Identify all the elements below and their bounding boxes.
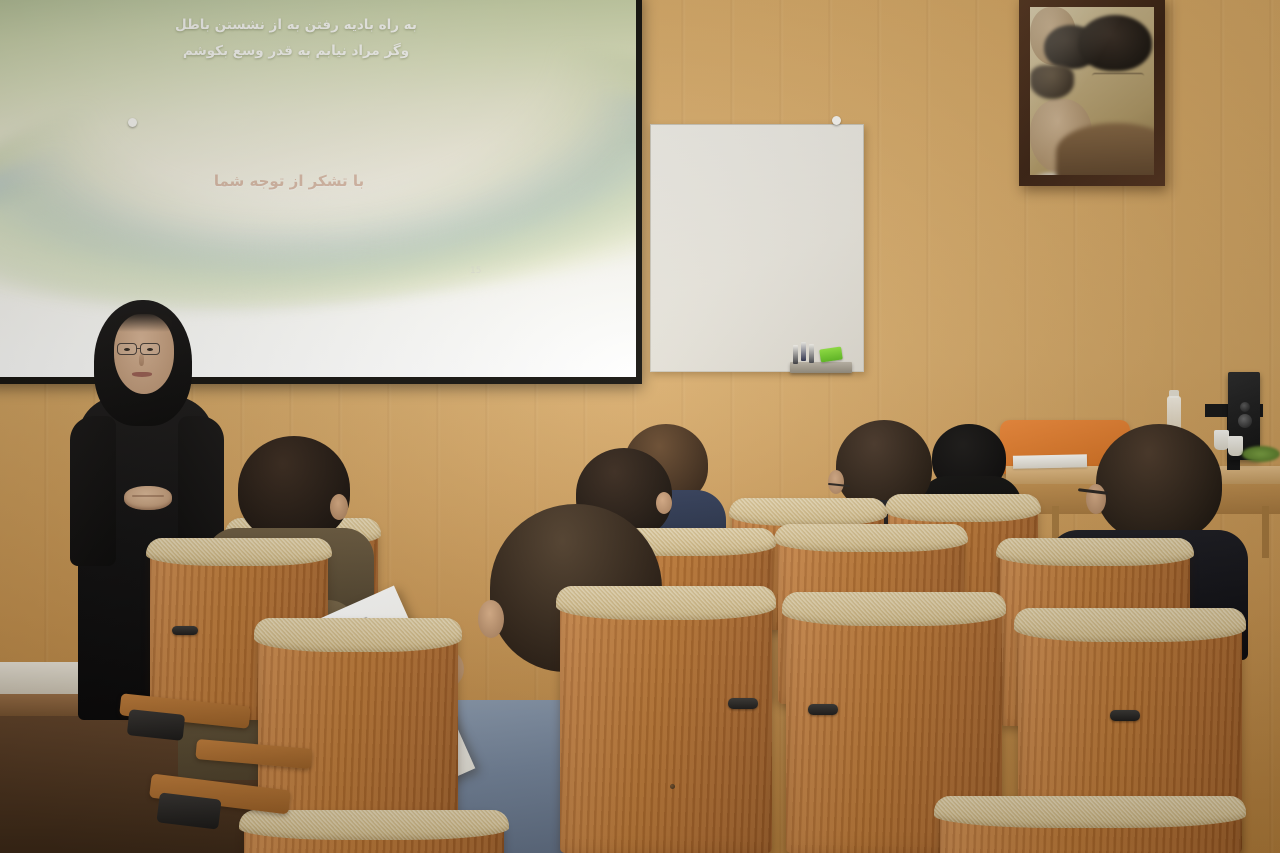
portrait-glass-sheen (1030, 7, 1154, 175)
attendee-p2-head (238, 436, 350, 542)
presenter-hand-crease (132, 495, 164, 497)
lecture-hall-photo: به راه بادیه رفتن به از نشستن باطل وگر م… (0, 0, 1280, 853)
seat-fabric-texture (934, 796, 1246, 828)
seat-screw (670, 784, 675, 789)
attendee-p3-ear (478, 600, 504, 638)
paper-cup-2 (1228, 436, 1243, 456)
seat-row0-right (940, 798, 1240, 853)
seat-fabric-texture (996, 538, 1194, 566)
attendee-p6-ear (828, 470, 844, 494)
seat-handle[interactable] (1110, 710, 1140, 721)
back-table-leg-right (1262, 506, 1269, 558)
slide-number: 15 (470, 266, 481, 276)
presenter-eye-left (124, 348, 130, 351)
seat-fabric-texture (239, 810, 509, 840)
table-greenery (1242, 446, 1280, 462)
seat-headrest (239, 810, 509, 840)
seat-fabric-texture (254, 618, 462, 652)
seat-row1-center (560, 588, 772, 853)
presenter-arm-left (70, 416, 116, 566)
presenter-mouth (132, 372, 152, 377)
presenter-eye-right (147, 348, 153, 351)
seat-headrest (146, 538, 331, 566)
papers-on-table (1013, 454, 1087, 469)
slide-thanks-text: با تشکر از توجه شما (0, 172, 636, 190)
seat-headrest (996, 538, 1194, 566)
seat-fabric-texture (146, 538, 331, 566)
seat-headrest (782, 592, 1007, 626)
seat-fabric-texture (782, 592, 1007, 626)
seat-headrest (1014, 608, 1247, 642)
slide-verse: به راه بادیه رفتن به از نشستن باطل وگر م… (0, 12, 636, 65)
portrait-image (1030, 7, 1154, 175)
seat-fabric-texture (729, 498, 887, 526)
marker-black-icon (793, 345, 798, 364)
seat-headrest (729, 498, 887, 526)
seat-fabric-texture (556, 586, 776, 620)
seat-fabric-texture (885, 494, 1041, 522)
whiteboard-mount-right (832, 116, 841, 125)
pa-speaker-woofer-icon (1238, 414, 1252, 428)
seat-headrest (254, 618, 462, 652)
seat-handle[interactable] (172, 626, 198, 635)
slide-verse-line-2: وگر مراد نیابم به قدر وسع بکوشم (0, 38, 592, 64)
seat-headrest (934, 796, 1246, 828)
seat-wood-grain (560, 588, 772, 853)
whiteboard-tray (790, 362, 852, 373)
pa-speaker-tweeter-icon (1240, 402, 1250, 412)
presenter-glasses-bridge (137, 348, 141, 349)
whiteboard (650, 124, 864, 372)
seat-headrest (774, 524, 967, 552)
seat-row0-left (244, 812, 504, 853)
whiteboard-mount-left (128, 118, 137, 127)
presenter-nose (139, 354, 144, 366)
seat-back-panel (560, 588, 772, 853)
marker-blue-icon (801, 342, 806, 361)
seat-headrest (885, 494, 1041, 522)
seat-fabric-texture (1014, 608, 1247, 642)
attendee-p2-ear (330, 494, 348, 520)
attendee-p4-ear (656, 492, 672, 514)
paper-cup-1 (1214, 430, 1229, 450)
slide-verse-line-1: به راه بادیه رفتن به از نشستن باطل (0, 12, 592, 38)
presenter-hands (124, 486, 172, 510)
presenter-hairline (116, 312, 172, 332)
seat-handle[interactable] (808, 704, 838, 715)
marker-gray-icon (809, 344, 814, 363)
seat-headrest (556, 586, 776, 620)
seat-fabric-texture (774, 524, 967, 552)
framed-portrait (1019, 0, 1165, 186)
attendee-p9-head (1096, 424, 1222, 542)
seat-handle[interactable] (728, 698, 758, 709)
